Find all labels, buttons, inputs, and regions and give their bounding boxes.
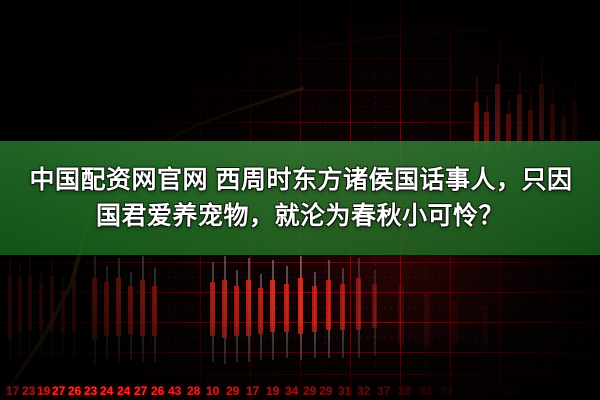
headline-line-1: 中国配资网官网 西周时东方诸侯国话事人，只因 [28, 162, 573, 198]
x-axis-tick-label: 28 [187, 384, 200, 398]
x-axis-tick-label: 10 [206, 384, 219, 398]
candle [482, 306, 488, 346]
candle [326, 260, 331, 358]
x-axis-tick-label: 29 [319, 384, 332, 398]
candle [8, 258, 12, 362]
candle [270, 260, 275, 360]
candle [312, 272, 317, 358]
x-axis-tick-label: 27 [52, 384, 65, 398]
x-axis-tick-label: 32 [357, 384, 370, 398]
headline-banner: 中国配资网官网 西周时东方诸侯国话事人，只因 国君爱养宠物，就沦为春秋小可怜？ [0, 141, 600, 255]
x-axis-tick-label: 43 [168, 384, 181, 398]
candle [128, 272, 133, 360]
candle [39, 270, 43, 356]
x-axis-tick-label: 23 [84, 384, 97, 398]
candle [140, 256, 145, 362]
candle [222, 256, 227, 364]
candle [246, 258, 251, 362]
candle [234, 270, 239, 362]
x-axis-tick-label: 27 [484, 384, 497, 398]
candle [210, 262, 215, 362]
x-axis-tick-label: 31 [462, 384, 475, 398]
x-axis-tick-label: 29 [303, 384, 316, 398]
candle [284, 266, 289, 358]
candle [340, 268, 345, 358]
x-axis-tick-label: 23 [22, 384, 35, 398]
candle [50, 258, 54, 356]
candle [372, 270, 377, 356]
x-axis-tick-label: 24 [117, 384, 130, 398]
candle [424, 292, 430, 346]
x-axis-tick-label: 33 [506, 384, 519, 398]
candle [72, 262, 76, 358]
x-axis-tick-label: 38 [398, 384, 411, 398]
candle [116, 258, 121, 362]
candle [452, 300, 458, 346]
x-axis-tick-label: 27 [134, 384, 147, 398]
candle [28, 256, 32, 356]
candle [152, 268, 157, 362]
x-axis-tick-label: 29 [440, 384, 453, 398]
x-axis-tick-label: 34 [285, 384, 298, 398]
headline-line-2: 国君爱养宠物，就沦为春秋小可怜？ [96, 198, 504, 234]
chart-banner: 1723192726232424272643281029171934292931… [0, 0, 600, 400]
x-axis-tick-label: 37 [377, 384, 390, 398]
candle [92, 256, 97, 366]
x-axis-tick-label: 24 [100, 384, 113, 398]
candle [104, 266, 109, 362]
candle [398, 284, 404, 346]
x-axis-tick-labels: 1723192726232424272643281029171934292931… [0, 378, 600, 398]
x-axis-tick-label: 31 [338, 384, 351, 398]
x-axis-tick-label: 17 [246, 384, 259, 398]
x-axis-tick-label: 33 [419, 384, 432, 398]
candle [258, 274, 263, 360]
candle [18, 264, 22, 356]
candle [298, 256, 303, 360]
x-axis-tick-label: 19 [266, 384, 279, 398]
x-axis-tick-label: 26 [68, 384, 81, 398]
x-axis-tick-label: 17 [6, 384, 19, 398]
candle [356, 258, 361, 358]
x-axis-tick-label: 19 [37, 384, 50, 398]
x-axis-tick-label: 29 [226, 384, 239, 398]
candle [61, 276, 65, 356]
x-axis-tick-label: 26 [151, 384, 164, 398]
